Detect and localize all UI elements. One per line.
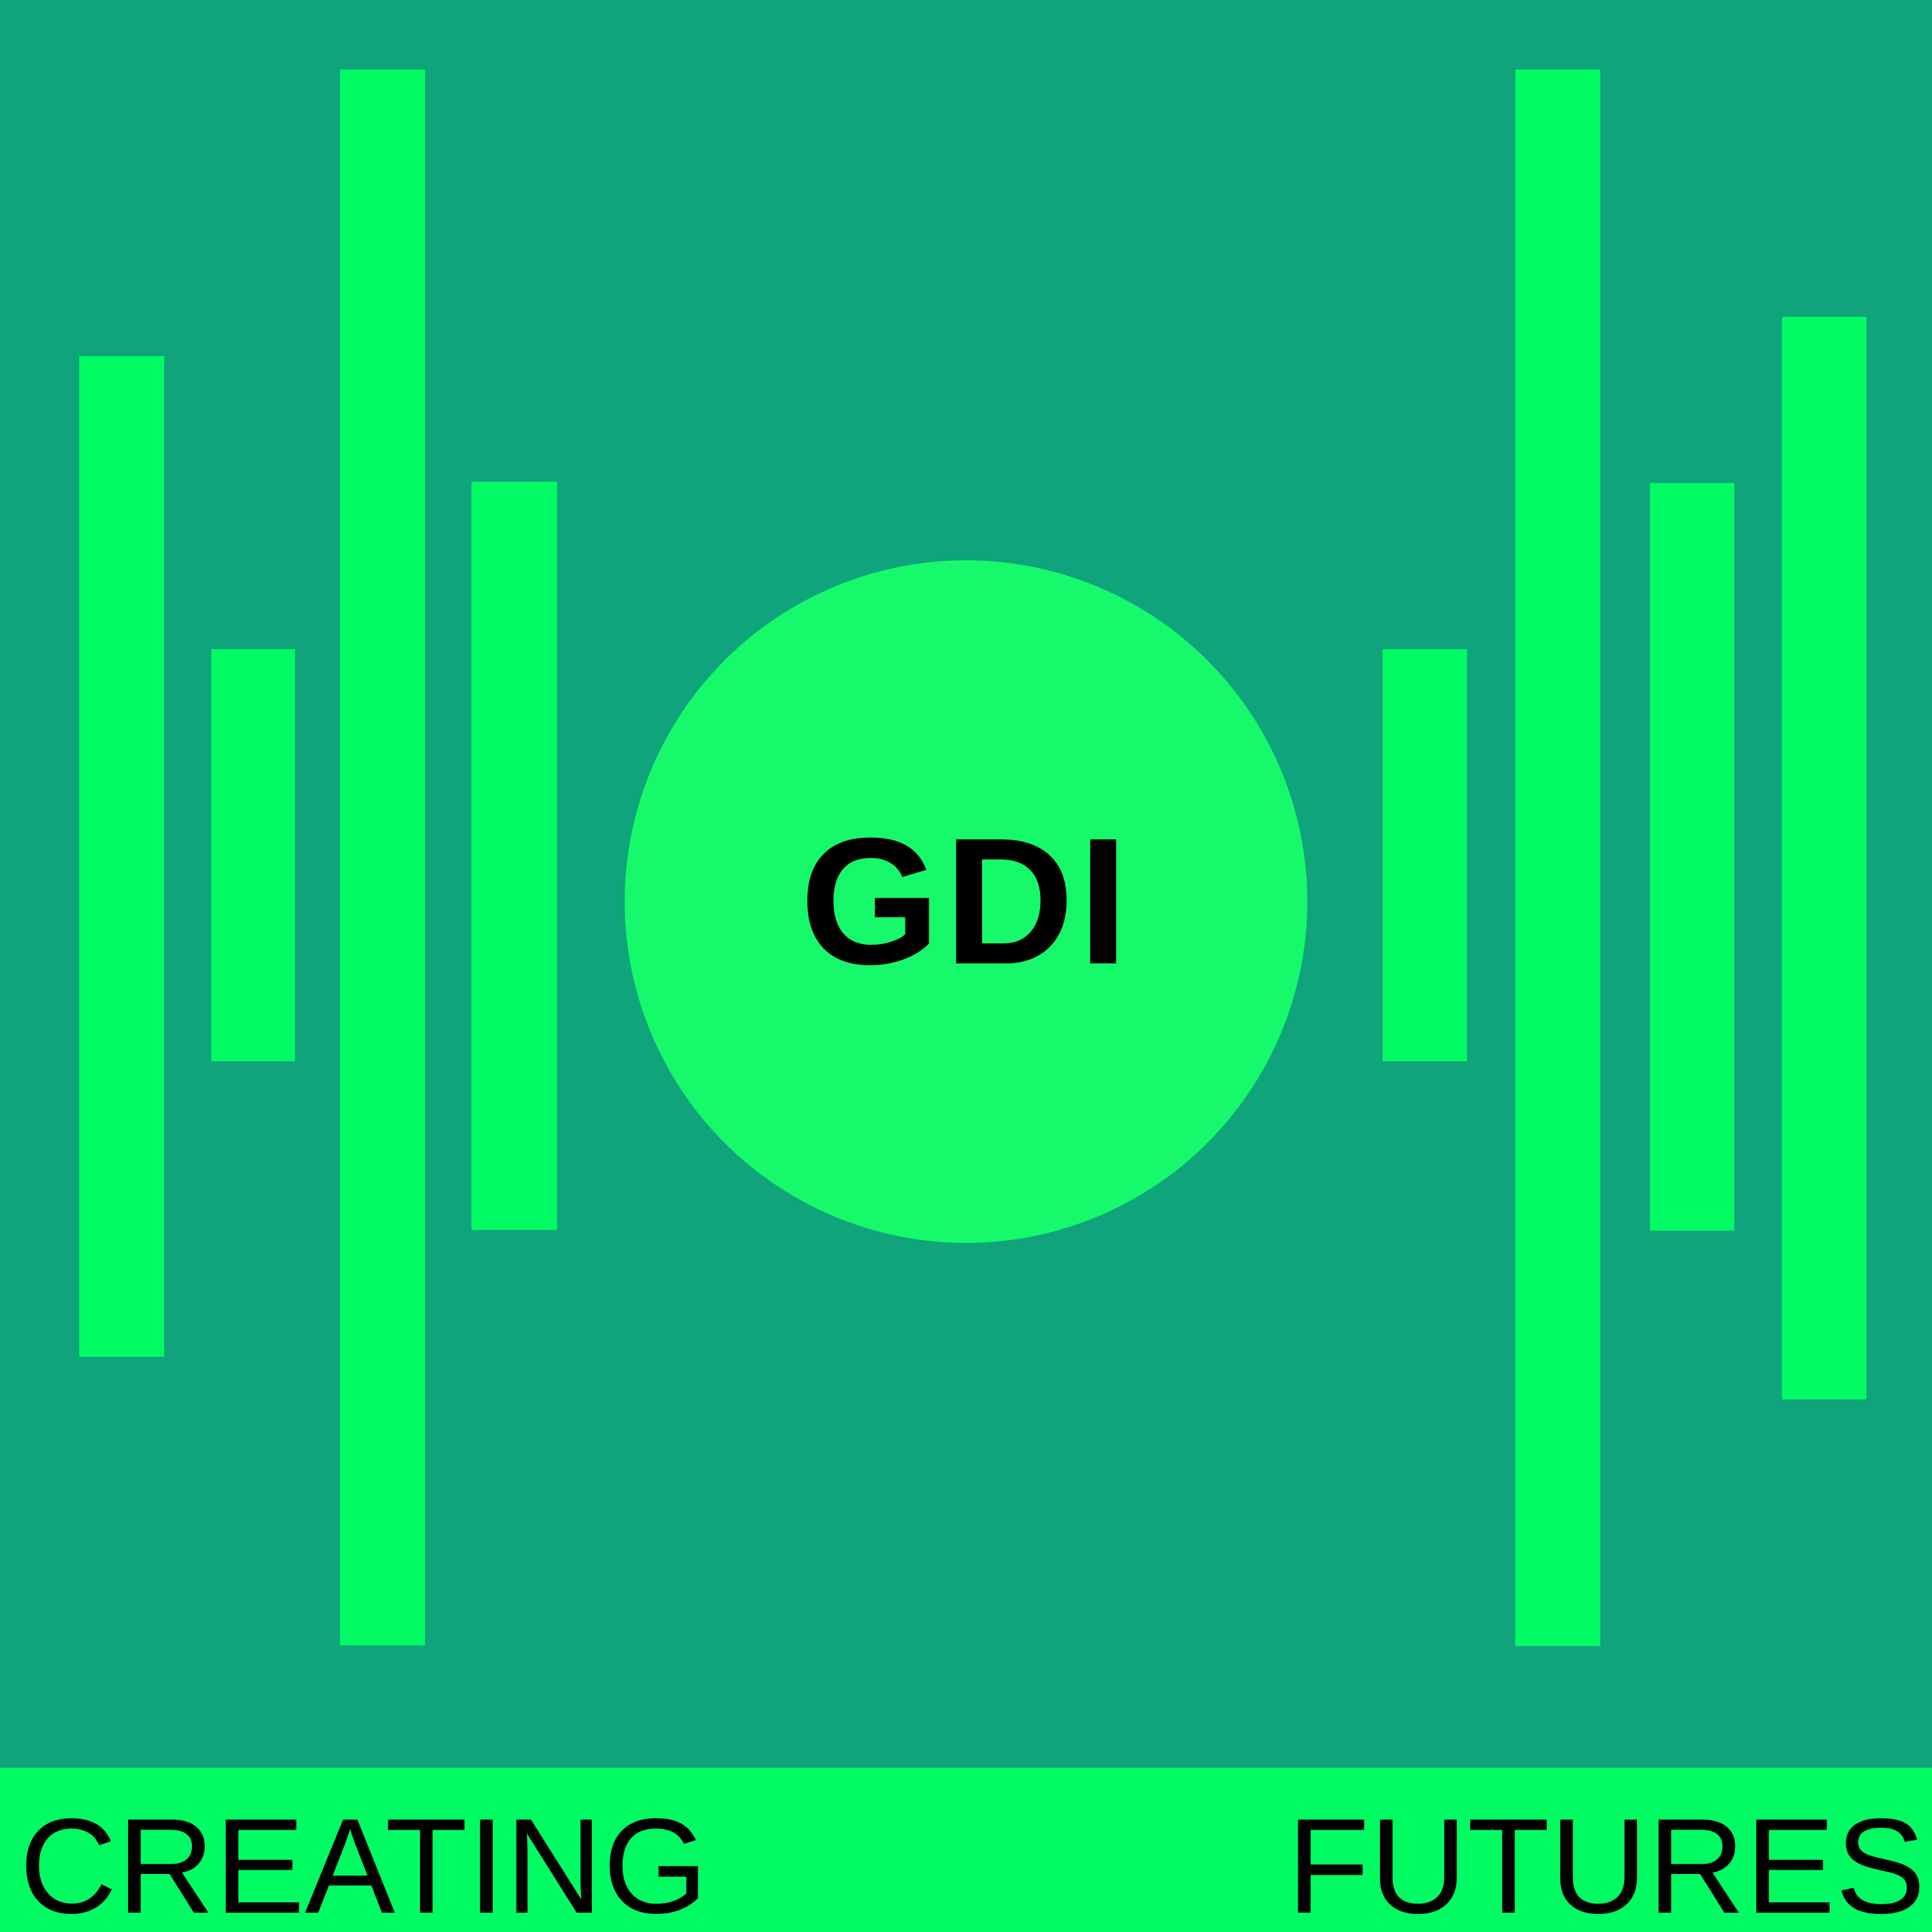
waveform-bar [211,649,295,1061]
waveform-bar [79,356,164,1357]
waveform-bar [1515,70,1600,1646]
waveform-bar [1383,649,1467,1061]
waveform-bar [1650,483,1734,1231]
logo-text: GDI [800,811,1132,992]
waveform-bar [471,482,557,1230]
artwork-background: GDI CREATING FUTURES [0,0,1932,1932]
waveform-bar [1782,317,1866,1399]
waveform-bar [340,70,425,1645]
tagline-right-word: FUTURES [1287,1799,1926,1932]
tagline-bar: CREATING FUTURES [0,1768,1932,1932]
podcast-cover-artwork: GDI CREATING FUTURES [0,0,1932,1932]
tagline-left-word: CREATING [19,1799,708,1932]
logo-circle: GDI [625,560,1307,1243]
